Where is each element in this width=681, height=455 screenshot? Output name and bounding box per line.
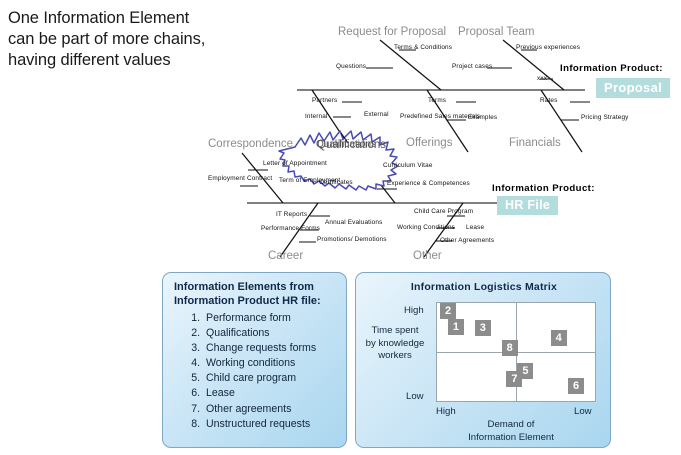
information-elements-panel: Information Elements from Information Pr… xyxy=(162,272,347,448)
category-career: Career xyxy=(268,250,303,262)
y-label-line-2: by knowledge xyxy=(356,338,434,351)
list-item: Change requests forms xyxy=(203,341,316,356)
hr-product-title: Information Product: xyxy=(492,183,595,194)
matrix-marker-1[interactable]: 1 xyxy=(448,319,464,335)
bone-questions: Questions xyxy=(336,63,366,71)
matrix-title: Information Logistics Matrix xyxy=(356,281,612,295)
bone-lease: Lease xyxy=(466,224,484,232)
y-tick-low: Low xyxy=(406,391,424,402)
bone-predefined-sales-materials: Predefined Sales materials xyxy=(400,113,448,121)
matrix-marker-7[interactable]: 7 xyxy=(506,371,522,387)
category-proposal-team: Proposal Team xyxy=(458,26,535,38)
bone-term-of-employment: Term of Employment xyxy=(279,177,319,185)
y-tick-high: High xyxy=(404,305,424,316)
bone-previous-experiences: Previous experiences xyxy=(516,44,570,52)
matrix-marker-8[interactable]: 8 xyxy=(502,340,518,356)
bone-experience-competences: Experience & Competences xyxy=(387,180,435,188)
bone-external: External xyxy=(364,111,389,119)
bone-terms: Terms xyxy=(428,97,446,105)
list-item: Other agreements xyxy=(203,402,316,417)
list-item: Lease xyxy=(203,386,316,401)
matrix-marker-6[interactable]: 6 xyxy=(568,378,584,394)
bone-annual-evaluations: Annual Evaluations xyxy=(325,219,363,227)
x-label-line-1: Demand of xyxy=(416,419,606,432)
bone-working-conditions: Working Conditions xyxy=(397,224,437,232)
information-elements-list: Performance form Qualifications Change r… xyxy=(187,311,316,432)
y-label-line-3: workers xyxy=(356,350,434,363)
slide-canvas: One Information Element can be part of m… xyxy=(0,0,681,455)
list-item: Child care program xyxy=(203,371,316,386)
list-item: Performance form xyxy=(203,311,316,326)
hr-product-chip: HR File xyxy=(497,196,558,215)
matrix-x-axis-label: Demand of Information Element xyxy=(416,419,606,444)
list-item: Working conditions xyxy=(203,356,316,371)
matrix-marker-2[interactable]: 2 xyxy=(440,303,456,319)
category-qualifications-hr: Qualifications xyxy=(317,139,386,151)
bone-partners: Partners xyxy=(312,97,337,105)
bone-letter-of-appointment: Letter of Appointment xyxy=(263,160,305,168)
proposal-product-chip: Proposal xyxy=(596,78,670,98)
x-tick-low: Low xyxy=(574,406,592,417)
category-correspondence: Correspondence xyxy=(208,138,293,150)
bone-curriculum-vitae: Curriculum Vitae xyxy=(383,162,419,170)
proposal-product-title: Information Product: xyxy=(560,63,663,74)
bone-other-agreements: Other Agreements xyxy=(440,237,480,245)
list-item: Qualifications xyxy=(203,326,316,341)
bone-xxx: xxx xyxy=(537,75,547,83)
bone-performance-forms: Performance Forms xyxy=(261,225,301,233)
category-offerings: Offerings xyxy=(406,137,452,149)
bone-promotions-demotions: Promotions/ Demotions xyxy=(317,236,359,244)
x-label-line-2: Information Element xyxy=(416,432,606,445)
category-other: Other xyxy=(413,250,442,262)
bone-employment-contract: Employment Contract xyxy=(208,175,246,183)
matrix-marker-4[interactable]: 4 xyxy=(551,330,567,346)
information-logistics-matrix-panel: Information Logistics Matrix Time spent … xyxy=(355,272,611,448)
matrix-y-axis-label: Time spent by knowledge workers xyxy=(356,325,434,363)
bone-rates: Rates xyxy=(540,97,557,105)
bone-child-care-program: Child Care Program xyxy=(414,208,452,216)
bone-it-reports: IT Reports xyxy=(276,211,307,219)
ie-title-line-1: Information Elements from xyxy=(174,281,342,295)
information-elements-title: Information Elements from Information Pr… xyxy=(174,281,342,308)
fishbone-diagram xyxy=(0,0,681,270)
bone-project-cases: Project cases xyxy=(452,63,492,71)
list-item: Unstructured requests xyxy=(203,417,316,432)
category-request-for-proposal: Request for Proposal xyxy=(338,26,446,38)
bone-internal: Internal xyxy=(305,113,328,121)
bone-terms-conditions: Terms & Conditions xyxy=(394,44,440,52)
x-tick-high: High xyxy=(436,406,456,417)
bone-pricing-strategy: Pricing Strategy xyxy=(581,114,621,122)
matrix-marker-3[interactable]: 3 xyxy=(475,320,491,336)
ie-title-line-2: Information Product HR file: xyxy=(174,295,342,309)
category-financials: Financials xyxy=(509,137,561,149)
matrix-plot-area: 12345678 xyxy=(436,302,596,402)
y-label-line-1: Time spent xyxy=(356,325,434,338)
bone-certificates: Certificates xyxy=(319,179,353,187)
